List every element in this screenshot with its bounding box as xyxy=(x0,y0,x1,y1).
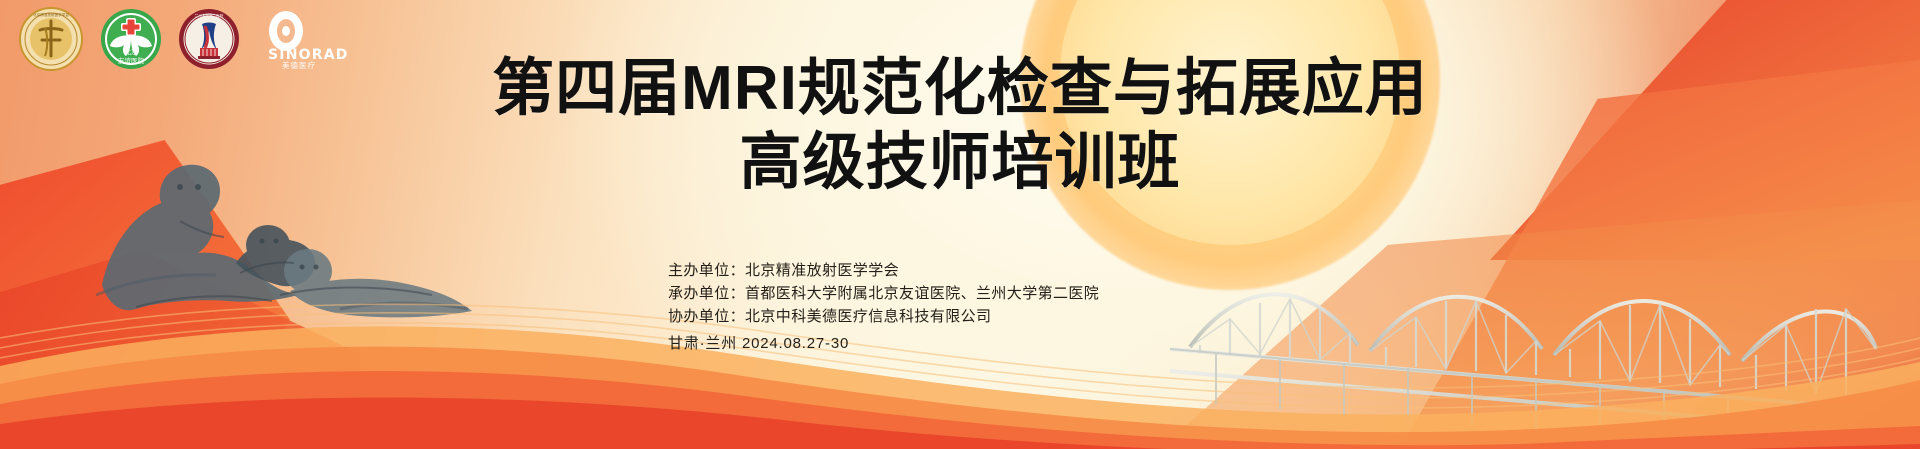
logo-row: 北京精准放射医学学会 北京 友谊医院 xyxy=(18,6,364,72)
beijing-friendship-hospital-logo: 北京 友谊医院 xyxy=(100,8,162,70)
organizer-undertaker: 承办单位：首都医科大学附属北京友谊医院、兰州大学第二医院 xyxy=(668,283,1099,306)
lanzhou-university-second-hospital-logo: 兰州大学第二医院 xyxy=(178,8,240,70)
conference-banner: 北京精准放射医学学会 北京 友谊医院 xyxy=(0,0,1920,449)
svg-text:北京: 北京 xyxy=(125,47,139,56)
organizer-block: 主办单位：北京精准放射医学学会 承办单位：首都医科大学附属北京友谊医院、兰州大学… xyxy=(668,260,1099,356)
beijing-precision-radiology-society-logo: 北京精准放射医学学会 xyxy=(18,6,84,72)
sinorad-logo: SINORAD 美德医疗 xyxy=(256,8,364,70)
organizer-host: 主办单位：北京精准放射医学学会 xyxy=(668,260,1099,283)
svg-text:北京精准放射医学学会: 北京精准放射医学学会 xyxy=(33,12,69,17)
svg-text:友谊医院: 友谊医院 xyxy=(118,56,145,65)
svg-text:美德医疗: 美德医疗 xyxy=(282,60,316,70)
organizer-coorganizer: 协办单位：北京中科美德医疗信息科技有限公司 xyxy=(668,306,1099,329)
svg-text:兰州大学第二医院: 兰州大学第二医院 xyxy=(195,13,224,18)
date-location: 甘肃·兰州 2024.08.27-30 xyxy=(668,333,1099,356)
